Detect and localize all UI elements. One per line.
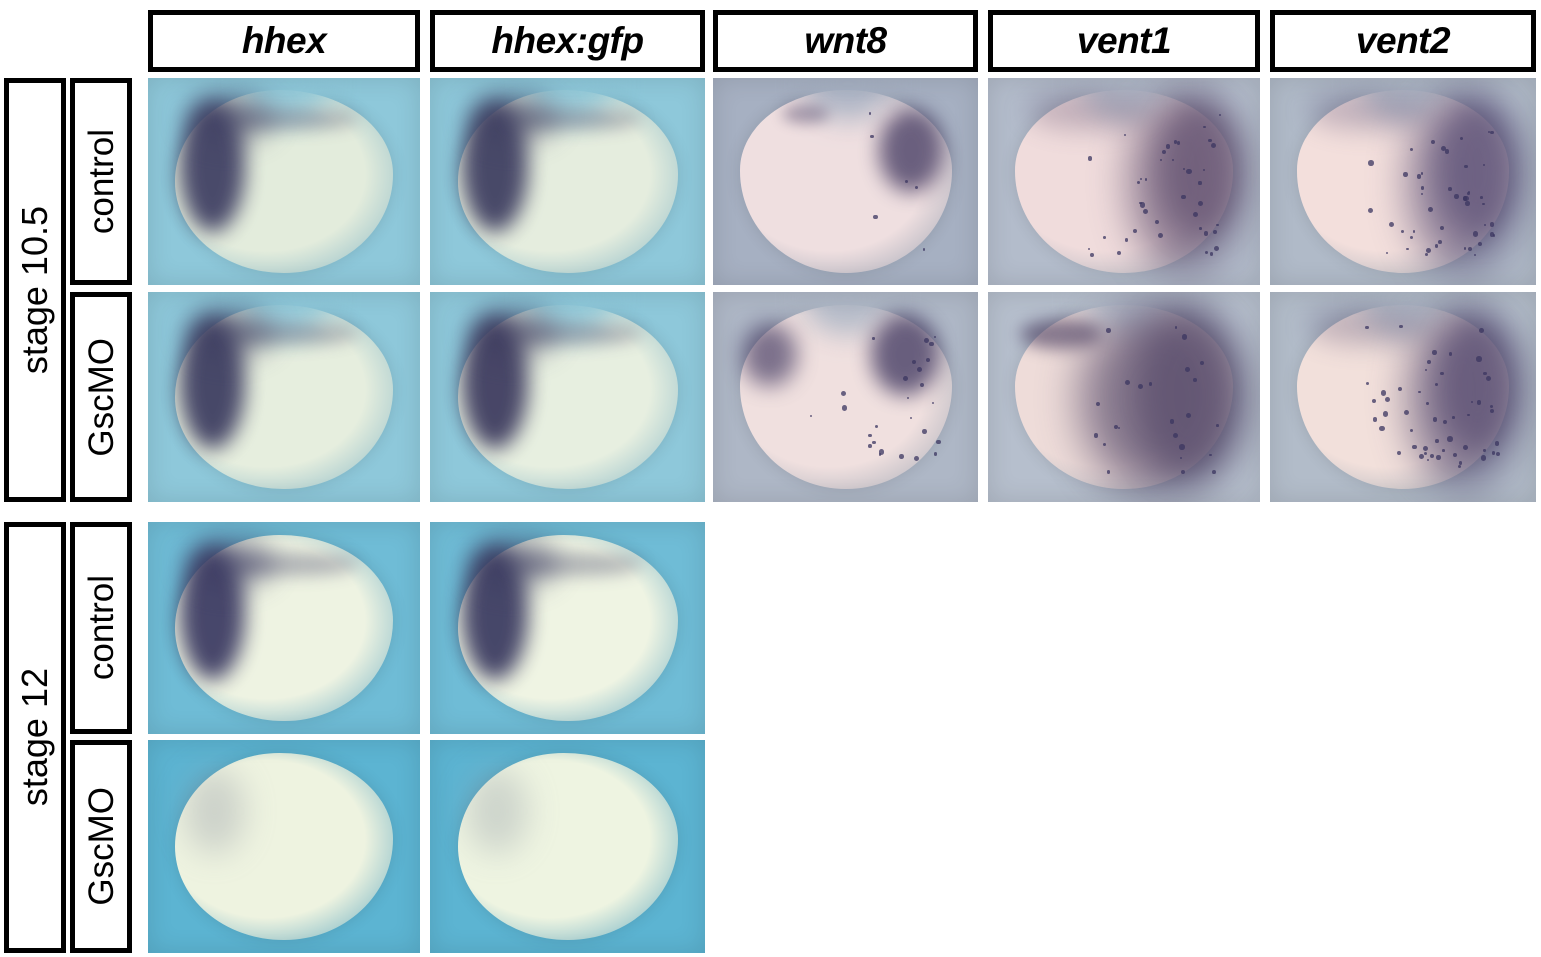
micrograph-panel-stage-10-5-gscmo-vent1 xyxy=(988,292,1260,502)
stain-speckle xyxy=(1198,201,1203,206)
stain-speckle xyxy=(1476,356,1481,361)
column-header-hhex: hhex xyxy=(148,10,420,72)
column-header-label: hhex:gfp xyxy=(491,20,643,62)
micrograph-panel-stage-10-5-control-vent2 xyxy=(1270,78,1536,285)
stain-speckle xyxy=(1216,224,1219,227)
expression-stain xyxy=(1020,319,1103,349)
stain-speckle xyxy=(1398,387,1402,391)
stain-speckle xyxy=(1463,445,1468,450)
stain-speckle xyxy=(934,336,936,338)
stain-speckle xyxy=(1219,114,1221,116)
stain-speckle xyxy=(1381,390,1386,395)
stain-speckle xyxy=(1452,416,1455,419)
stain-speckle xyxy=(1492,451,1495,454)
stain-speckle xyxy=(1482,203,1484,205)
stain-speckle xyxy=(1419,454,1424,459)
stain-speckle xyxy=(1479,328,1484,333)
stain-speckle xyxy=(1436,455,1441,460)
stain-speckle xyxy=(1177,141,1181,145)
stain-speckle xyxy=(1454,194,1459,199)
stain-speckle xyxy=(1403,172,1407,176)
column-header-label: hhex xyxy=(242,20,326,62)
stain-speckle xyxy=(873,215,877,219)
stain-speckle xyxy=(1412,445,1416,449)
stain-speckle xyxy=(1186,413,1191,418)
stain-speckle xyxy=(1368,208,1373,213)
expression-stain xyxy=(1437,316,1518,453)
column-header-hhex-gfp: hhex:gfp xyxy=(430,10,705,72)
expression-stain xyxy=(782,105,829,123)
micrograph-panel-stage-10-5-gscmo-vent2 xyxy=(1270,292,1536,502)
row-group-label-text: stage 12 xyxy=(17,668,53,806)
expression-stain xyxy=(871,314,939,395)
stain-speckle xyxy=(1133,229,1137,233)
stain-speckle xyxy=(1424,452,1427,455)
stain-speckle xyxy=(1145,178,1147,180)
stain-speckle xyxy=(1216,424,1219,427)
stain-speckle xyxy=(1090,253,1094,257)
stain-speckle xyxy=(1181,195,1185,199)
stain-speckle xyxy=(1399,325,1403,329)
stain-speckle xyxy=(1180,457,1182,459)
micrograph-panel-stage-12-control-hhex-gfp xyxy=(430,522,705,734)
stain-speckle xyxy=(1143,209,1148,214)
stain-speckle xyxy=(1179,444,1184,449)
stain-speckle xyxy=(1425,253,1428,256)
stain-speckle xyxy=(1103,236,1106,239)
expression-stain xyxy=(1437,101,1518,236)
micrograph-panel-stage-10-5-control-wnt8 xyxy=(713,78,978,285)
stain-speckle xyxy=(929,342,934,347)
stain-speckle xyxy=(872,337,874,339)
stain-speckle xyxy=(899,454,904,459)
stain-speckle xyxy=(1389,222,1394,227)
stain-speckle xyxy=(1185,367,1190,372)
row-group-label-text: stage 10.5 xyxy=(17,206,53,374)
stain-speckle xyxy=(1373,417,1377,421)
stain-speckle xyxy=(1106,328,1111,333)
stain-speckle xyxy=(1427,360,1431,364)
stain-speckle xyxy=(1125,238,1128,241)
expression-stain xyxy=(184,768,245,854)
stain-speckle xyxy=(934,452,938,456)
stain-speckle xyxy=(1137,181,1140,184)
stain-speckle xyxy=(1426,248,1431,253)
stain-speckle xyxy=(1490,409,1494,413)
column-header-wnt8: wnt8 xyxy=(713,10,978,72)
stain-speckle xyxy=(868,434,872,438)
expression-stain xyxy=(1135,308,1239,478)
expression-stain xyxy=(742,323,797,386)
stain-speckle xyxy=(1379,426,1384,431)
stain-speckle xyxy=(1459,461,1462,464)
expression-stain xyxy=(223,553,358,575)
row-label-stage-12-gscmo: GscMO xyxy=(70,740,132,953)
stain-speckle xyxy=(1431,140,1435,144)
column-header-label: vent2 xyxy=(1356,20,1450,62)
stain-speckle xyxy=(1203,126,1206,129)
micrograph-panel-stage-12-control-hhex xyxy=(148,522,420,734)
stain-speckle xyxy=(1490,131,1493,134)
stain-speckle xyxy=(1088,156,1093,161)
expression-stain xyxy=(1159,101,1242,236)
stain-speckle xyxy=(905,180,908,183)
stain-speckle xyxy=(1421,186,1424,189)
stain-speckle xyxy=(1443,420,1447,424)
micrograph-panel-stage-10-5-control-hhex xyxy=(148,78,420,285)
stain-speckle xyxy=(1088,248,1090,250)
row-label-text: control xyxy=(84,575,119,680)
stain-speckle xyxy=(922,429,927,434)
stain-speckle xyxy=(1140,202,1145,207)
stain-speckle xyxy=(1182,334,1187,339)
column-header-vent2: vent2 xyxy=(1270,10,1536,72)
row-label-stage-10-5-control: control xyxy=(70,78,132,285)
stain-speckle xyxy=(1467,414,1470,417)
row-label-stage-10-5-gscmo: GscMO xyxy=(70,292,132,502)
stain-speckle xyxy=(926,358,930,362)
stain-speckle xyxy=(1496,452,1500,456)
stain-speckle xyxy=(923,248,925,250)
row-label-text: control xyxy=(84,129,119,234)
stain-speckle xyxy=(1162,150,1166,154)
stain-speckle xyxy=(1465,201,1469,205)
stain-speckle xyxy=(1212,470,1216,474)
stain-speckle xyxy=(1464,165,1468,169)
row-label-text: GscMO xyxy=(84,787,119,906)
row-label-stage-12-control: control xyxy=(70,522,132,734)
stain-speckle xyxy=(1467,192,1470,195)
stain-speckle xyxy=(1432,350,1436,354)
stain-speckle xyxy=(1480,196,1483,199)
stain-speckle xyxy=(1368,160,1373,165)
stain-speckle xyxy=(1198,181,1201,184)
stain-speckle xyxy=(1483,449,1485,451)
stain-speckle xyxy=(1186,169,1191,174)
column-header-label: vent1 xyxy=(1077,20,1171,62)
stain-speckle xyxy=(841,391,846,396)
expression-stain xyxy=(506,553,642,575)
micrograph-panel-stage-12-gscmo-hhex-gfp xyxy=(430,740,705,953)
stain-speckle xyxy=(1173,433,1178,438)
stain-speckle xyxy=(1418,391,1421,394)
micrograph-panel-stage-10-5-control-vent1 xyxy=(988,78,1260,285)
stain-speckle xyxy=(1447,436,1452,441)
stain-speckle xyxy=(1481,455,1486,460)
stain-speckle xyxy=(1445,149,1449,153)
stain-speckle xyxy=(1421,172,1423,174)
row-group-label-stage-12: stage 12 xyxy=(4,522,66,953)
expression-stain xyxy=(466,768,528,854)
stain-speckle xyxy=(1448,187,1452,191)
stain-speckle xyxy=(1117,251,1121,255)
stain-speckle xyxy=(879,453,882,456)
stain-speckle xyxy=(1464,247,1466,249)
stain-speckle xyxy=(1199,227,1202,230)
row-label-text: GscMO xyxy=(84,338,119,457)
expression-stain xyxy=(1307,305,1424,346)
stain-speckle xyxy=(1213,230,1217,234)
micrograph-panel-stage-10-5-gscmo-wnt8 xyxy=(713,292,978,502)
stain-speckle xyxy=(1210,252,1213,255)
stain-speckle xyxy=(1490,222,1495,227)
stain-speckle xyxy=(1433,417,1437,421)
stain-speckle xyxy=(1200,361,1204,365)
stain-speckle xyxy=(868,444,872,448)
figure-panel-grid: hhex hhex:gfp wnt8 vent1 vent2 stage 10.… xyxy=(0,0,1541,957)
stain-speckle xyxy=(1193,378,1197,382)
micrograph-panel-stage-12-gscmo-hhex xyxy=(148,740,420,953)
stain-speckle xyxy=(936,440,941,445)
stain-speckle xyxy=(1473,231,1478,236)
stain-speckle xyxy=(1383,411,1388,416)
column-header-vent1: vent1 xyxy=(988,10,1260,72)
expression-stain xyxy=(879,109,943,193)
stain-speckle xyxy=(1125,380,1130,385)
stain-speckle xyxy=(1442,449,1445,452)
stain-speckle xyxy=(1175,326,1178,329)
stain-speckle xyxy=(1435,439,1439,443)
micrograph-panel-stage-10-5-gscmo-hhex xyxy=(148,292,420,502)
stain-speckle xyxy=(1107,470,1111,474)
stain-speckle xyxy=(1440,372,1443,375)
micrograph-panel-stage-10-5-control-hhex-gfp xyxy=(430,78,705,285)
stain-speckle xyxy=(1404,410,1409,415)
stain-speckle xyxy=(1211,143,1216,148)
stain-speckle xyxy=(1478,242,1482,246)
stain-speckle xyxy=(1094,433,1098,437)
stain-speckle xyxy=(1118,427,1120,429)
stain-speckle xyxy=(1410,148,1413,151)
row-group-label-stage-10-5: stage 10.5 xyxy=(4,78,66,502)
stain-speckle xyxy=(924,338,929,343)
column-header-label: wnt8 xyxy=(804,20,886,62)
micrograph-panel-stage-10-5-gscmo-hhex-gfp xyxy=(430,292,705,502)
